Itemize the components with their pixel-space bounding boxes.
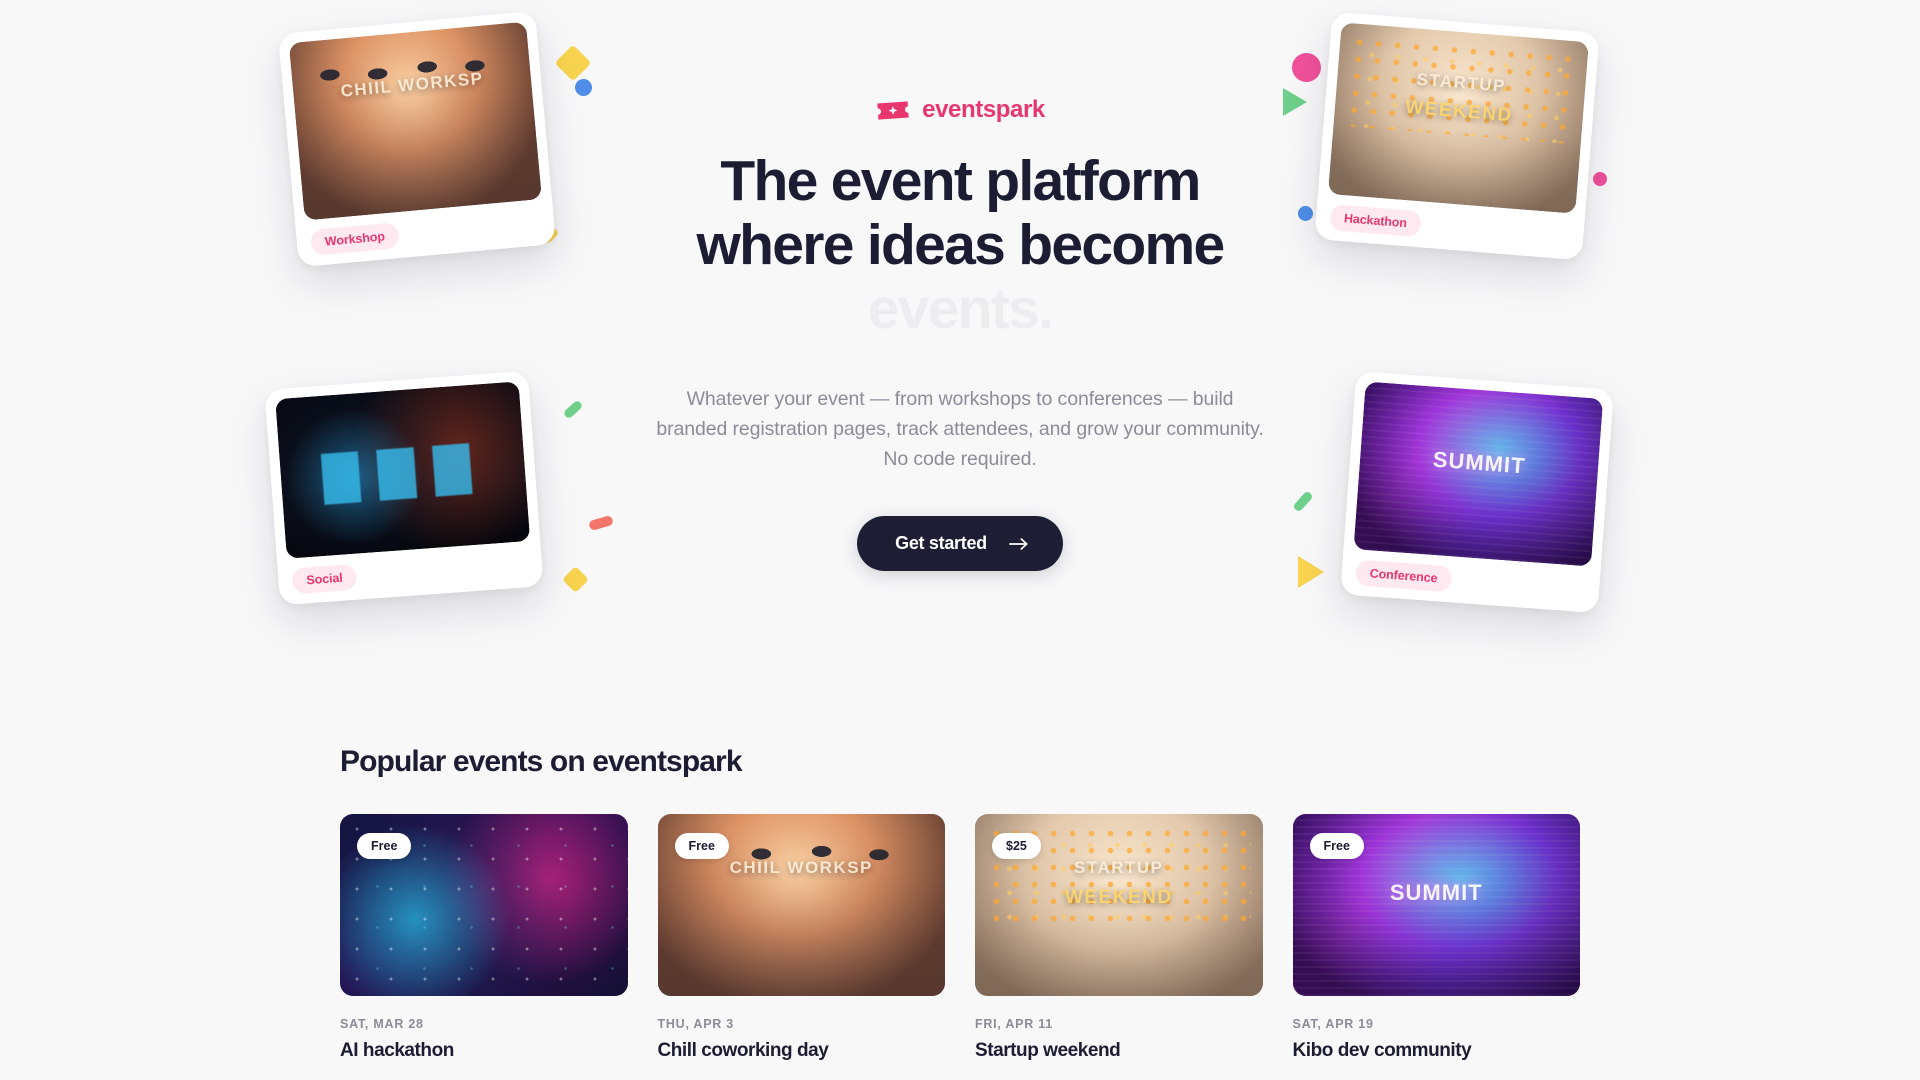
deco-blue-dot-right bbox=[1298, 206, 1313, 221]
hero-section: CHIIL WORKSP Workshop STARTUP WEEKEND Ha… bbox=[0, 0, 1920, 660]
category-badge-social: Social bbox=[292, 564, 358, 595]
floating-card-thumb: CHIIL WORKSP bbox=[289, 22, 542, 221]
events-grid: Free SAT, MAR 28 AI hackathon CHIIL WORK… bbox=[340, 814, 1580, 1062]
scene-neon-text: SUMMIT bbox=[1293, 880, 1581, 906]
section-title: Popular events on eventspark bbox=[340, 745, 1580, 779]
floating-card-workshop[interactable]: CHIIL WORKSP Workshop bbox=[278, 11, 556, 267]
deco-yellow-triangle-right bbox=[1298, 556, 1324, 588]
category-badge-workshop: Workshop bbox=[310, 222, 400, 256]
get-started-label: Get started bbox=[895, 533, 987, 554]
event-card[interactable]: STARTUP WEEKEND $25 FRI, APR 11 Startup … bbox=[975, 814, 1263, 1062]
event-card[interactable]: SUMMIT Free SAT, APR 19 Kibo dev communi… bbox=[1293, 814, 1581, 1062]
category-badge-hackathon: Hackathon bbox=[1329, 204, 1422, 237]
category-badge-conference: Conference bbox=[1355, 559, 1452, 592]
floating-card-hackathon[interactable]: STARTUP WEEKEND Hackathon bbox=[1314, 12, 1599, 261]
cta-wrapper: Get started bbox=[650, 516, 1270, 571]
landing-page: CHIIL WORKSP Workshop STARTUP WEEKEND Ha… bbox=[0, 0, 1920, 1080]
deco-green-triangle-right bbox=[1283, 88, 1307, 116]
event-thumbnail: Free bbox=[340, 814, 628, 996]
event-date: THU, APR 3 bbox=[658, 1017, 946, 1031]
deco-blue-dot bbox=[575, 79, 592, 96]
deco-coral-bar bbox=[588, 515, 614, 531]
floating-card-conference[interactable]: SUMMIT Conference bbox=[1340, 371, 1614, 613]
event-thumbnail: SUMMIT Free bbox=[1293, 814, 1581, 996]
price-badge: $25 bbox=[992, 833, 1041, 859]
scene-wall-text: STARTUP bbox=[975, 858, 1263, 878]
get-started-button[interactable]: Get started bbox=[857, 516, 1063, 571]
event-date: SAT, MAR 28 bbox=[340, 1017, 628, 1031]
popular-events-section: Popular events on eventspark Free SAT, M… bbox=[0, 745, 1920, 1062]
price-badge: Free bbox=[357, 833, 411, 859]
page-title: The event platform where ideas become ev… bbox=[650, 150, 1270, 341]
event-date: SAT, APR 19 bbox=[1293, 1017, 1581, 1031]
hero-subtitle: Whatever your event — from workshops to … bbox=[650, 385, 1270, 474]
deco-pink-circle-right bbox=[1292, 53, 1321, 82]
event-title: Startup weekend bbox=[975, 1040, 1263, 1062]
event-date: FRI, APR 11 bbox=[975, 1017, 1263, 1031]
hero-content: eventspark The event platform where idea… bbox=[650, 96, 1270, 571]
event-card[interactable]: Free SAT, MAR 28 AI hackathon bbox=[340, 814, 628, 1062]
event-title: Chill coworking day bbox=[658, 1040, 946, 1062]
price-badge: Free bbox=[1310, 833, 1364, 859]
floating-card-social[interactable]: Social bbox=[264, 371, 543, 606]
scene-wall-text: CHIIL WORKSP bbox=[658, 858, 946, 878]
deco-yellow-square-lower bbox=[562, 566, 589, 593]
event-title: Kibo dev community bbox=[1293, 1040, 1581, 1062]
ticket-sparkle-icon bbox=[875, 98, 911, 123]
headline-line-2: where ideas become bbox=[650, 214, 1270, 278]
brand-logo[interactable]: eventspark bbox=[650, 96, 1270, 124]
price-badge: Free bbox=[675, 833, 729, 859]
scene-wall-text-2: WEEKEND bbox=[975, 887, 1263, 909]
event-thumbnail: STARTUP WEEKEND $25 bbox=[975, 814, 1263, 996]
deco-pink-dot-edge bbox=[1593, 172, 1607, 186]
deco-yellow-diamond bbox=[555, 45, 592, 82]
headline-line-1: The event platform bbox=[650, 150, 1270, 214]
event-card[interactable]: CHIIL WORKSP Free THU, APR 3 Chill cowor… bbox=[658, 814, 946, 1062]
brand-name: eventspark bbox=[922, 96, 1045, 124]
floating-card-thumb: SUMMIT bbox=[1353, 382, 1603, 567]
deco-green-bar-right bbox=[1292, 490, 1313, 512]
event-title: AI hackathon bbox=[340, 1040, 628, 1062]
headline-line-3: events. bbox=[650, 278, 1270, 342]
deco-green-bar bbox=[563, 399, 584, 419]
floating-card-thumb bbox=[275, 381, 530, 558]
floating-card-thumb: STARTUP WEEKEND bbox=[1328, 22, 1589, 213]
arrow-right-icon bbox=[1009, 537, 1029, 551]
popular-events-container: Popular events on eventspark Free SAT, M… bbox=[340, 745, 1580, 1062]
event-thumbnail: CHIIL WORKSP Free bbox=[658, 814, 946, 996]
